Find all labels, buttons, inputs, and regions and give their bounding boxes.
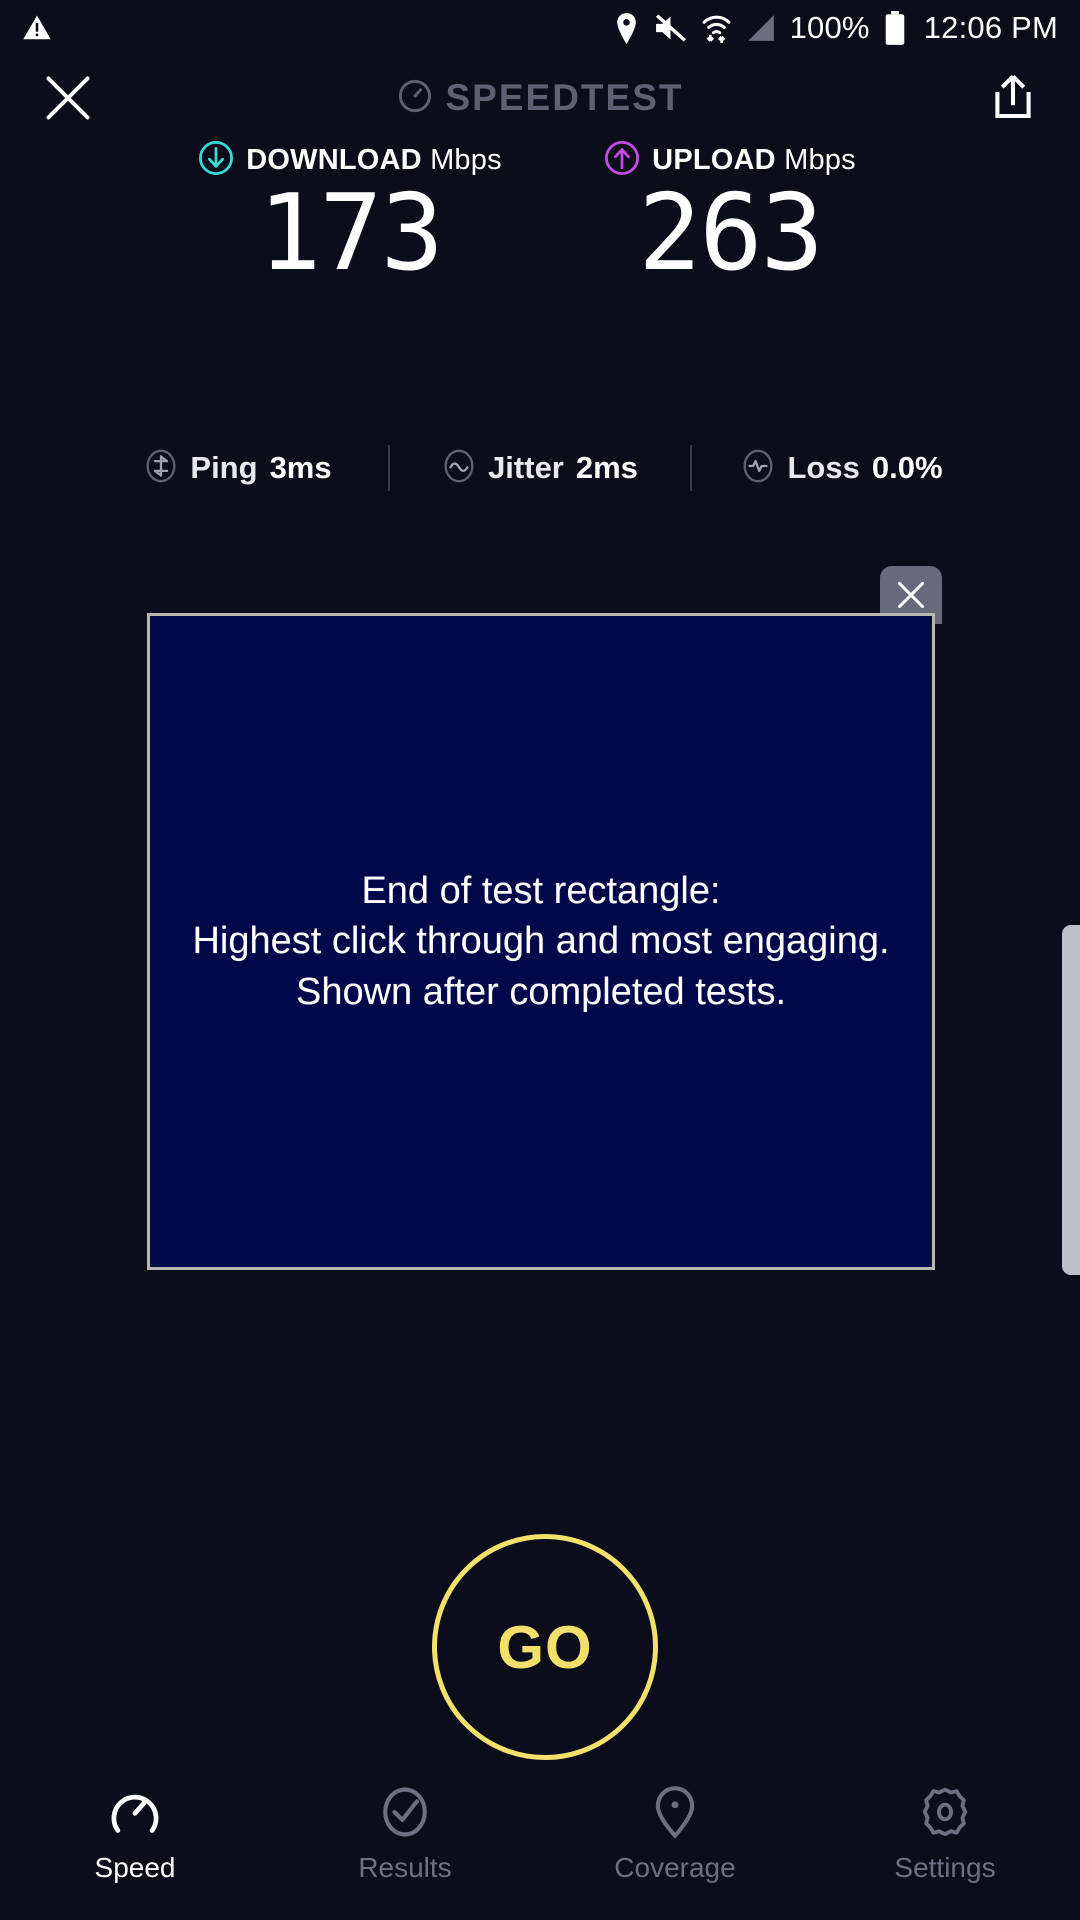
nav-label-settings: Settings: [894, 1852, 995, 1884]
scrollbar-thumb[interactable]: [1062, 925, 1080, 1275]
status-bar-right: 100% 12:06 PM: [613, 10, 1058, 46]
results-panel: DOWNLOAD Mbps 173 UPLOAD Mbps 263: [0, 138, 1080, 288]
nav-label-coverage: Coverage: [614, 1852, 735, 1884]
nav-label-speed: Speed: [95, 1852, 176, 1884]
loss-stat: Loss 0.0%: [692, 449, 992, 488]
ping-label: Ping: [190, 450, 257, 486]
speedometer-icon: [106, 1782, 164, 1842]
speedometer-icon: [397, 78, 433, 119]
wifi-icon: [701, 13, 732, 44]
ping-icon: [144, 449, 178, 488]
jitter-icon: [442, 449, 476, 488]
jitter-stat: Jitter 2ms: [390, 449, 690, 488]
loss-value: 0.0%: [872, 450, 943, 486]
download-metric: DOWNLOAD Mbps 173: [160, 138, 540, 288]
connection-stats-row: Ping 3ms Jitter 2ms: [0, 438, 1080, 498]
ad-text: End of test rectangle: Highest click thr…: [192, 866, 889, 1016]
app-screen: 100% 12:06 PM SPEEDTEST: [0, 0, 1080, 1920]
battery-full-icon: [884, 11, 906, 46]
bottom-navigation: Speed Results Coverage: [0, 1770, 1080, 1920]
map-pin-icon: [646, 1782, 704, 1842]
location-pin-icon: [613, 13, 640, 44]
jitter-value: 2ms: [576, 450, 638, 486]
loss-label: Loss: [787, 450, 859, 486]
volume-mute-icon: [654, 14, 687, 42]
check-circle-icon: [376, 1782, 434, 1842]
go-button-label: GO: [497, 1613, 592, 1682]
ping-value: 3ms: [270, 450, 332, 486]
upload-metric: UPLOAD Mbps 263: [540, 138, 920, 288]
status-bar-clock: 12:06 PM: [924, 10, 1058, 46]
brand-title-group: SPEEDTEST: [0, 70, 1080, 126]
upload-arrow-icon: [604, 140, 640, 181]
share-button[interactable]: [982, 66, 1044, 130]
battery-percent-label: 100%: [790, 10, 870, 46]
gear-icon: [916, 1782, 974, 1842]
nav-item-speed[interactable]: Speed: [0, 1770, 270, 1884]
download-value: 173: [160, 178, 540, 288]
upload-value: 263: [540, 178, 920, 288]
ping-stat: Ping 3ms: [88, 449, 388, 488]
nav-item-results[interactable]: Results: [270, 1770, 540, 1884]
cellular-signal-icon: [746, 14, 776, 42]
jitter-label: Jitter: [488, 450, 564, 486]
ad-line-3: Shown after completed tests.: [192, 967, 889, 1017]
download-arrow-icon: [198, 140, 234, 181]
go-button[interactable]: GO: [432, 1534, 658, 1760]
nav-item-coverage[interactable]: Coverage: [540, 1770, 810, 1884]
advertisement-banner[interactable]: End of test rectangle: Highest click thr…: [147, 613, 935, 1270]
warning-triangle-icon: [22, 13, 52, 43]
speed-metrics-row: DOWNLOAD Mbps 173 UPLOAD Mbps 263: [0, 138, 1080, 288]
ad-line-2: Highest click through and most engaging.: [192, 916, 889, 966]
app-header: SPEEDTEST: [0, 56, 1080, 138]
status-bar: 100% 12:06 PM: [0, 0, 1080, 56]
ad-line-1: End of test rectangle:: [192, 866, 889, 916]
status-bar-left: [22, 13, 52, 43]
loss-icon: [741, 449, 775, 488]
page-title: SPEEDTEST: [446, 77, 684, 119]
nav-label-results: Results: [358, 1852, 451, 1884]
nav-item-settings[interactable]: Settings: [810, 1770, 1080, 1884]
